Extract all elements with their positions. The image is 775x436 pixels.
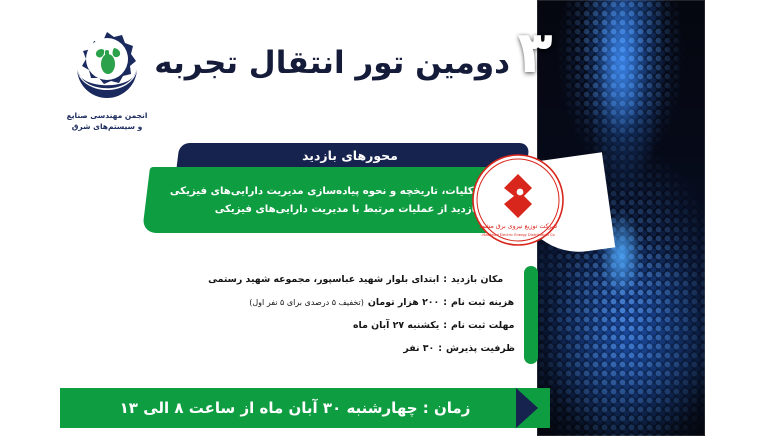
detail-separator: :: [439, 297, 451, 308]
detail-label: مکان بازدید: [451, 274, 515, 285]
gear-person-logo-icon: [64, 28, 150, 108]
detail-label: هزینه ثبت نام: [451, 297, 515, 308]
details-accent-bar: [524, 266, 538, 364]
detail-separator: :: [434, 343, 446, 354]
svg-text:Mashhad Electric Energy Distri: Mashhad Electric Energy Distribution Co.: [481, 233, 555, 237]
detail-row: مهلت ثبت نام : یکشنبه ۲۷ آبان ماه: [205, 314, 515, 337]
host-company-seal: شرکت توزيع نيروی برق مشهد Mashhad Electr…: [470, 152, 566, 248]
topic-item: ارائه کلیات، تاریخچه و نحوه پیاده‌سازی م…: [154, 186, 516, 197]
detail-label: مهلت ثبت نام: [451, 320, 515, 331]
topic-item: بازدید از عملیات مرتبط با مدیریت دارایی‌…: [154, 204, 516, 215]
detail-row: هزینه ثبت نام : ۲۰۰ هزار تومان (تخفیف ۵ …: [205, 291, 515, 314]
blue-glow-top: [586, 0, 656, 170]
time-banner-tail: [538, 388, 550, 428]
topics-list: ارائه کلیات، تاریخچه و نحوه پیاده‌سازی م…: [154, 169, 522, 231]
detail-row: ظرفیت پذیرش : ۳۰ نفر: [205, 337, 515, 360]
detail-value: یکشنبه ۲۷ آبان ماه: [353, 320, 439, 331]
event-poster: انجمن مهندسی صنایع و سیستم‌های شرق دومین…: [0, 0, 775, 436]
poster-title: دومین تور انتقال تجربه: [170, 35, 510, 91]
association-name-line2: و سیستم‌های شرق: [52, 121, 162, 132]
details-list: مکان بازدید : ابتدای بلوار شهید عباسپور،…: [205, 268, 515, 364]
detail-note: (تخفیف ۵ درصدی برای ۵ نفر اول): [249, 298, 368, 307]
association-name: انجمن مهندسی صنایع و سیستم‌های شرق: [52, 110, 162, 133]
detail-label: ظرفیت پذیرش: [446, 343, 515, 354]
time-banner-text: زمان : چهارشنبه ۳۰ آبان ماه از ساعت ۸ ال…: [60, 388, 530, 428]
association-name-line1: انجمن مهندسی صنایع: [52, 110, 162, 121]
detail-value: ابتدای بلوار شهید عباسپور، مجموعه شهید ر…: [208, 274, 439, 285]
svg-text:شرکت توزيع نيروی برق مشهد: شرکت توزيع نيروی برق مشهد: [479, 223, 557, 230]
detail-row: مکان بازدید : ابتدای بلوار شهید عباسپور،…: [205, 268, 515, 291]
association-logo: انجمن مهندسی صنایع و سیستم‌های شرق: [52, 28, 162, 136]
red-diamond-seal-logo-icon: شرکت توزيع نيروی برق مشهد Mashhad Electr…: [470, 152, 566, 248]
detail-value: ۳۰ نفر: [403, 343, 434, 354]
edition-number: ۳: [505, 14, 565, 90]
detail-separator: :: [439, 320, 451, 331]
detail-value: ۲۰۰ هزار تومان: [368, 297, 439, 308]
detail-separator: :: [439, 274, 451, 285]
